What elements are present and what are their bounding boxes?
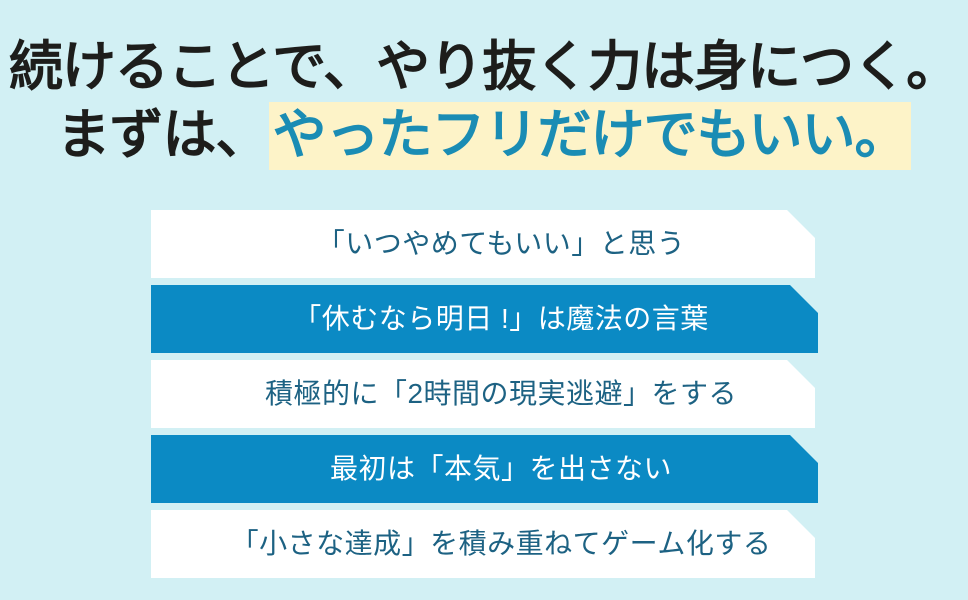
headline-block: 続けることで、やり抜く力は身につく。 まずは、やったフリだけでもいい。 (0, 36, 968, 170)
headline-line-2: まずは、やったフリだけでもいい。 (0, 102, 968, 170)
tip-banner-4: 最初は「本気」を出さない (151, 435, 851, 503)
tip-banner-label-2: 「休むなら明日 !」は魔法の言葉 (169, 303, 833, 335)
tip-banner-label-4: 最初は「本気」を出さない (169, 453, 833, 485)
headline-line-1: 続けることで、やり抜く力は身につく。 (0, 36, 968, 98)
headline-highlighted-text: やったフリだけでもいい。 (269, 102, 912, 170)
tip-banner-5: 「小さな達成」を積み重ねてゲーム化する (151, 510, 851, 578)
headline-plain-text: まずは、 (57, 104, 269, 166)
tip-banner-label-3: 積極的に「2時間の現実逃避」をする (169, 378, 833, 410)
tip-banner-3: 積極的に「2時間の現実逃避」をする (151, 360, 851, 428)
tip-banner-list: 「いつやめてもいい」と思う 「休むなら明日 !」は魔法の言葉 積極的に「2時間の… (151, 210, 851, 585)
tip-banner-1: 「いつやめてもいい」と思う (151, 210, 851, 278)
tip-banner-2: 「休むなら明日 !」は魔法の言葉 (151, 285, 851, 353)
tip-banner-label-5: 「小さな達成」を積み重ねてゲーム化する (169, 528, 833, 560)
poster-canvas: 続けることで、やり抜く力は身につく。 まずは、やったフリだけでもいい。 「いつや… (0, 0, 968, 600)
tip-banner-label-1: 「いつやめてもいい」と思う (169, 228, 833, 260)
